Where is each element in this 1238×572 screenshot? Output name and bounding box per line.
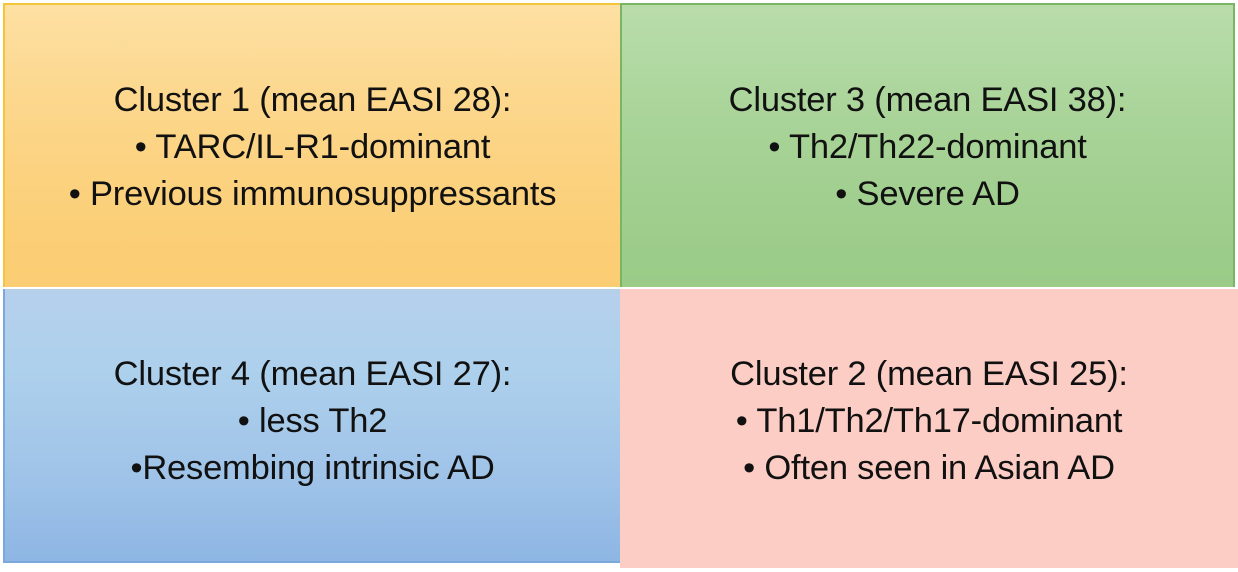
quadrant-cluster-4-text: Cluster 4 (mean EASI 27): • less Th2 •Re… (5, 351, 620, 492)
quadrant-cluster-1[interactable]: Cluster 1 (mean EASI 28): • TARC/IL-R1-d… (3, 3, 620, 287)
quadrant-cluster-2-text: Cluster 2 (mean EASI 25): • Th1/Th2/Th17… (620, 351, 1238, 492)
quadrant-cluster-3-text: Cluster 3 (mean EASI 38): • Th2/Th22-dom… (622, 77, 1233, 218)
quadrant-cluster-3[interactable]: Cluster 3 (mean EASI 38): • Th2/Th22-dom… (620, 3, 1235, 287)
quadrant-cluster-2[interactable]: Cluster 2 (mean EASI 25): • Th1/Th2/Th17… (620, 289, 1238, 568)
quadrant-diagram: Cluster 1 (mean EASI 28): • TARC/IL-R1-d… (0, 0, 1238, 572)
quadrant-cluster-4[interactable]: Cluster 4 (mean EASI 27): • less Th2 •Re… (3, 289, 620, 563)
quadrant-cluster-1-text: Cluster 1 (mean EASI 28): • TARC/IL-R1-d… (5, 77, 620, 218)
